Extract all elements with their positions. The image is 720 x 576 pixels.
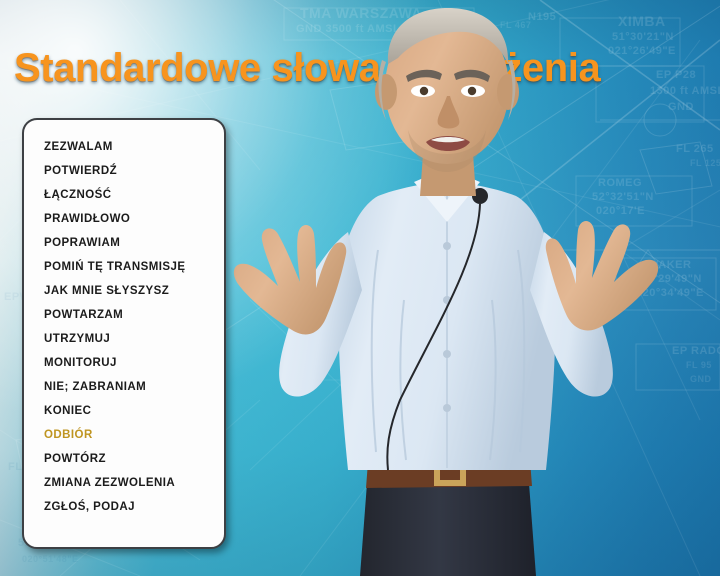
phrase-item[interactable]: ODBIÓR <box>24 424 224 448</box>
phrase-item[interactable]: JAK MNIE SŁYSZYSZ <box>24 280 224 304</box>
phrase-item[interactable]: PRAWIDŁOWO <box>24 208 224 232</box>
phrase-item[interactable]: ZMIANA ZEZWOLENIA <box>24 472 224 496</box>
phrase-list: ZEZWALAMPOTWIERDŹŁĄCZNOŚĆPRAWIDŁOWOPOPRA… <box>24 120 224 520</box>
phrase-item[interactable]: ZGŁOŚ, PODAJ <box>24 496 224 520</box>
phrase-item[interactable]: POMIŃ TĘ TRANSMISJĘ <box>24 256 224 280</box>
standard-phrases-panel[interactable]: ZEZWALAMPOTWIERDŹŁĄCZNOŚĆPRAWIDŁOWOPOPRA… <box>22 118 226 549</box>
phrase-item[interactable]: MONITORUJ <box>24 352 224 376</box>
phrase-item[interactable]: ZEZWALAM <box>24 136 224 160</box>
phrase-item[interactable]: ŁĄCZNOŚĆ <box>24 184 224 208</box>
phrase-item[interactable]: POWTARZAM <box>24 304 224 328</box>
phrase-item[interactable]: KONIEC <box>24 400 224 424</box>
phrase-item[interactable]: POTWIERDŹ <box>24 160 224 184</box>
phrase-item[interactable]: NIE; ZABRANIAM <box>24 376 224 400</box>
phrase-item[interactable]: POPRAWIAM <box>24 232 224 256</box>
page-title: Standardowe słowa i wyrażenia <box>14 48 600 88</box>
phrase-item[interactable]: POWTÓRZ <box>24 448 224 472</box>
phrase-item[interactable]: UTRZYMUJ <box>24 328 224 352</box>
slide-stage: TMA WARSZAWAGND 3500 ft AMSLFL 225T266FL… <box>0 0 720 576</box>
